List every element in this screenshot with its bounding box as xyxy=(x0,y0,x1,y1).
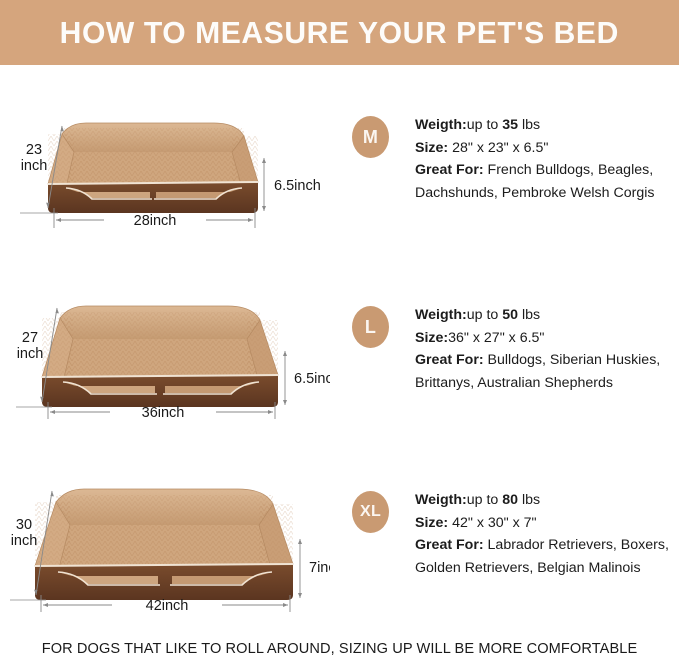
bed-illustration-m: 23 inch 28inch 6.5inch xyxy=(0,96,330,231)
bed-illustration-l: 27 inch 36inch 6.5inch xyxy=(0,286,330,421)
dimension-width-value-xl: 42inch xyxy=(146,598,189,614)
weight-number-xl: 80 xyxy=(502,492,518,508)
weight-prefix-xl: up to xyxy=(467,492,503,508)
size-row-l: 27 inch 36inch 6.5inch L Weigth:up to 50… xyxy=(0,286,679,421)
header-banner: HOW TO MEASURE YOUR PET'S BED xyxy=(0,0,679,65)
info-text-l: Weigth:up to 50 lbs Size:36" x 27" x 6.5… xyxy=(415,304,660,394)
size-badge-xl: XL xyxy=(352,491,389,533)
dimension-depth-value-xl: 30 xyxy=(16,517,32,533)
weight-prefix-m: up to xyxy=(467,117,503,133)
dimension-height-value-xl: 7inch xyxy=(309,560,330,576)
size-line-m: Size: 28" x 23" x 6.5" xyxy=(415,137,654,160)
great-for-line1-l: Great For: Bulldogs, Siberian Huskies, xyxy=(415,349,660,372)
bed-illustration-xl: 30 inch 42inch 7inch xyxy=(0,471,330,614)
info-block-l: L Weigth:up to 50 lbs Size:36" x 27" x 6… xyxy=(352,304,660,394)
weight-prefix-l: up to xyxy=(467,307,503,323)
size-line-l: Size:36" x 27" x 6.5" xyxy=(415,327,660,350)
great-for-line2-m: Dachshunds, Pembroke Welsh Corgis xyxy=(415,182,654,205)
size-badge-l: L xyxy=(352,306,389,348)
info-block-xl: XL Weigth:up to 80 lbs Size: 42" x 30" x… xyxy=(352,489,669,579)
bed-body-xl xyxy=(35,489,293,600)
dimension-height-m xyxy=(262,158,266,211)
info-text-m: Weigth:up to 35 lbs Size: 28" x 23" x 6.… xyxy=(415,114,654,204)
great-for-label-m: Great For: xyxy=(415,162,484,178)
weight-number-l: 50 xyxy=(502,307,518,323)
great-for-line1-xl: Great For: Labrador Retrievers, Boxers, xyxy=(415,534,669,557)
weight-unit-xl: lbs xyxy=(518,492,540,508)
dimension-depth-unit-l: inch xyxy=(17,346,44,362)
dimension-height-value-l: 6.5inch xyxy=(294,371,330,387)
weight-label-m: Weigth: xyxy=(415,117,467,133)
size-row-xl: 30 inch 42inch 7inch XL Weigth:up to 80 … xyxy=(0,471,679,614)
great-for-line2-xl: Golden Retrievers, Belgian Malinois xyxy=(415,557,669,580)
weight-line-m: Weigth:up to 35 lbs xyxy=(415,114,654,137)
size-value-m: 28" x 23" x 6.5" xyxy=(448,140,548,156)
bed-body-m xyxy=(48,123,258,213)
weight-unit-m: lbs xyxy=(518,117,540,133)
size-badge-label-xl: XL xyxy=(360,503,381,521)
weight-unit-l: lbs xyxy=(518,307,540,323)
info-text-xl: Weigth:up to 80 lbs Size: 42" x 30" x 7"… xyxy=(415,489,669,579)
size-label-l: Size: xyxy=(415,330,448,346)
great-for-label-xl: Great For: xyxy=(415,537,484,553)
dimension-height-l xyxy=(283,351,287,405)
size-value-l: 36" x 27" x 6.5" xyxy=(448,330,544,346)
size-badge-label-l: L xyxy=(365,317,376,338)
page-title: HOW TO MEASURE YOUR PET'S BED xyxy=(60,15,619,51)
dimension-width-value-m: 28inch xyxy=(134,213,177,229)
dimension-depth-unit-m: inch xyxy=(21,158,48,174)
great-for-line2-l: Brittanys, Australian Shepherds xyxy=(415,372,660,395)
weight-label-xl: Weigth: xyxy=(415,492,467,508)
size-row-m: 23 inch 28inch 6.5inch M Weigth:up to 35… xyxy=(0,96,679,231)
great-for-breeds1-l: Bulldogs, Siberian Huskies, xyxy=(484,352,661,368)
info-block-m: M Weigth:up to 35 lbs Size: 28" x 23" x … xyxy=(352,114,654,204)
dimension-depth-value-m: 23 xyxy=(26,142,42,158)
size-label-xl: Size: xyxy=(415,515,448,531)
dimension-height-xl xyxy=(298,539,302,598)
size-badge-m: M xyxy=(352,116,389,158)
great-for-line1-m: Great For: French Bulldogs, Beagles, xyxy=(415,159,654,182)
great-for-label-l: Great For: xyxy=(415,352,484,368)
dimension-height-value-m: 6.5inch xyxy=(274,178,321,194)
weight-number-m: 35 xyxy=(502,117,518,133)
dimension-depth-unit-xl: inch xyxy=(11,533,38,549)
size-label-m: Size: xyxy=(415,140,448,156)
size-badge-label-m: M xyxy=(363,127,378,148)
size-value-xl: 42" x 30" x 7" xyxy=(448,515,536,531)
footer-note: FOR DOGS THAT LIKE TO ROLL AROUND, SIZIN… xyxy=(14,640,666,657)
size-line-xl: Size: 42" x 30" x 7" xyxy=(415,512,669,535)
dimension-width-value-l: 36inch xyxy=(142,405,185,421)
weight-label-l: Weigth: xyxy=(415,307,467,323)
great-for-breeds1-xl: Labrador Retrievers, Boxers, xyxy=(484,537,669,553)
dimension-depth-value-l: 27 xyxy=(22,330,38,346)
great-for-breeds1-m: French Bulldogs, Beagles, xyxy=(484,162,654,178)
bed-body-l xyxy=(42,306,278,407)
weight-line-xl: Weigth:up to 80 lbs xyxy=(415,489,669,512)
weight-line-l: Weigth:up to 50 lbs xyxy=(415,304,660,327)
